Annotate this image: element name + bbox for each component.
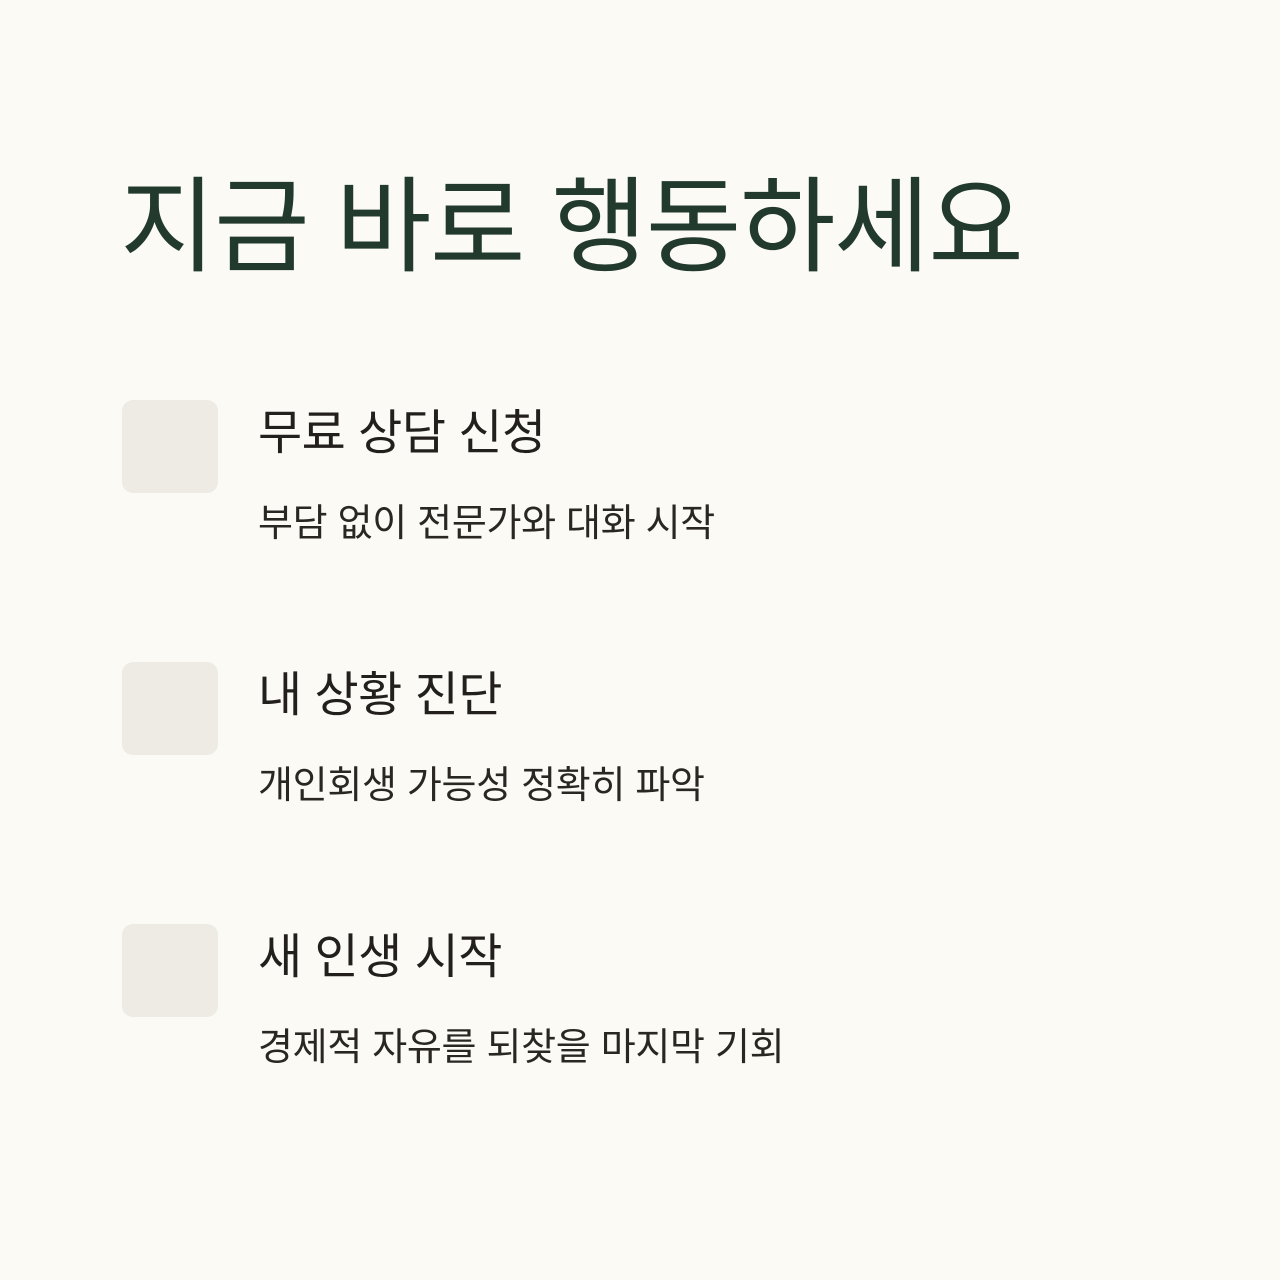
list-item-heading: 새 인생 시작 <box>258 924 1218 992</box>
list-item[interactable]: 무료 상담 신청 부담 없이 전문가와 대화 시작 <box>0 400 1280 662</box>
list-item-subtext: 개인회생 가능성 정확히 파악 <box>258 762 1218 810</box>
list-item-subtext: 경제적 자유를 되찾을 마지막 기회 <box>258 1024 1218 1072</box>
benefit-list: 무료 상담 신청 부담 없이 전문가와 대화 시작 내 상황 진단 개인회생 가… <box>0 400 1280 924</box>
list-item-heading: 무료 상담 신청 <box>258 400 1218 468</box>
placeholder-square-icon <box>122 662 218 755</box>
placeholder-square-icon <box>122 400 218 493</box>
list-item-body: 무료 상담 신청 부담 없이 전문가와 대화 시작 <box>258 400 1218 548</box>
placeholder-square-icon <box>122 924 218 1017</box>
list-item[interactable]: 내 상황 진단 개인회생 가능성 정확히 파악 <box>0 662 1280 924</box>
list-item-body: 새 인생 시작 경제적 자유를 되찾을 마지막 기회 <box>258 924 1218 1072</box>
page-title: 지금 바로 행동하세요 <box>120 163 1160 293</box>
list-item-body: 내 상황 진단 개인회생 가능성 정확히 파악 <box>258 662 1218 810</box>
cta-card: 지금 바로 행동하세요 무료 상담 신청 부담 없이 전문가와 대화 시작 내 … <box>0 0 1280 1280</box>
list-item-heading: 내 상황 진단 <box>258 662 1218 730</box>
list-item-subtext: 부담 없이 전문가와 대화 시작 <box>258 500 1218 548</box>
